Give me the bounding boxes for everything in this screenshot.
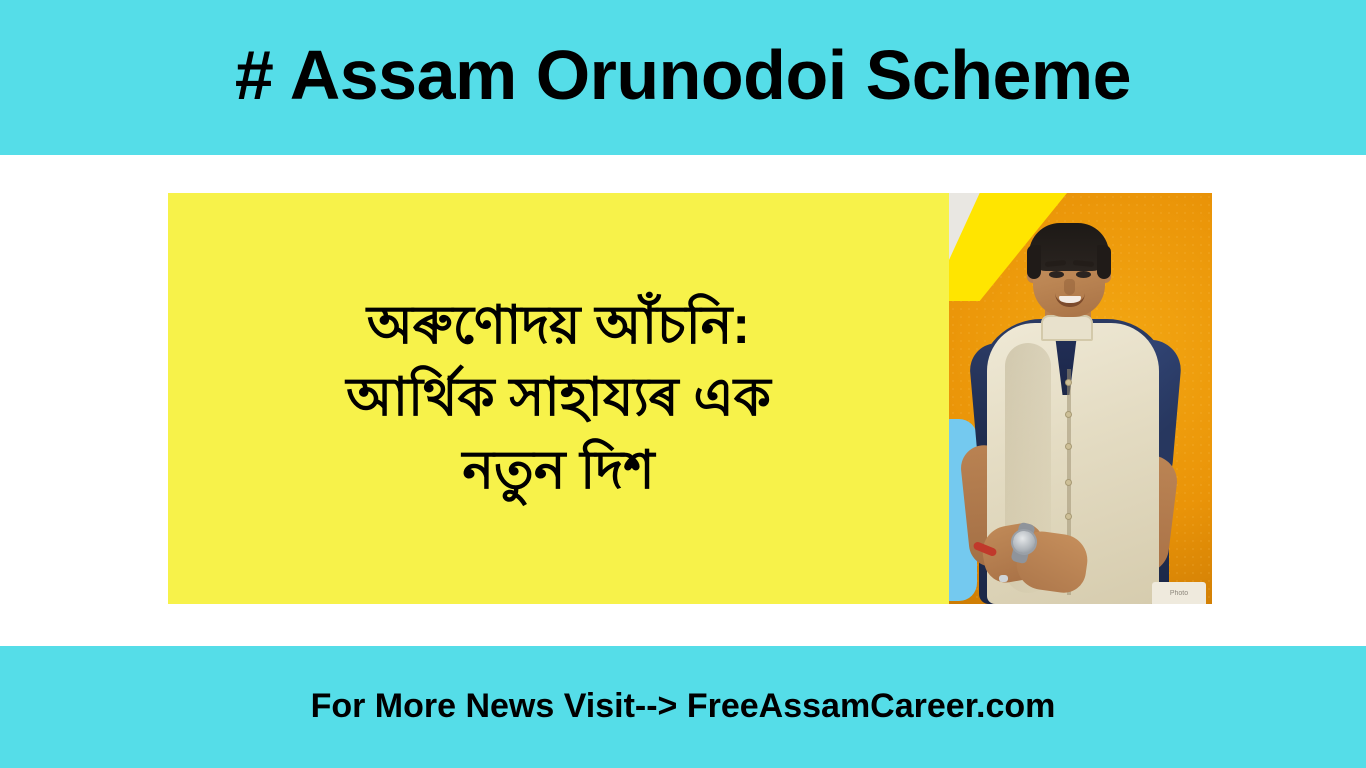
figure-collar — [1041, 315, 1093, 341]
poster-canvas: # Assam Orunodoi Scheme অৰুণোদয় আঁচনি: … — [0, 0, 1366, 768]
figure-ring — [999, 575, 1008, 582]
footer-credit: For More News Visit--> FreeAssamCareer.c… — [0, 646, 1366, 768]
figure-eye-left — [1049, 271, 1064, 278]
figure-eye-right — [1076, 271, 1091, 278]
headline-panel: অৰুণোদয় আঁচনি: আৰ্থিক সাহায্যৰ এক নতুন … — [168, 193, 949, 604]
headline-line-1: অৰুণোদয় আঁচনি: — [367, 290, 750, 362]
headline-line-2: আৰ্থিক সাহায্যৰ এক — [346, 362, 771, 434]
headline-line-3: নতুন দিশ — [462, 435, 654, 507]
figure-hair-side-right — [1097, 245, 1111, 279]
figure-button — [1065, 443, 1072, 450]
figure-button — [1065, 513, 1072, 520]
portrait-photo: Photo — [949, 193, 1212, 604]
figure-button — [1065, 411, 1072, 418]
figure-button — [1065, 479, 1072, 486]
page-title: # Assam Orunodoi Scheme — [0, 0, 1366, 155]
photo-caption-chip: Photo — [1152, 582, 1206, 604]
person-figure — [949, 193, 1212, 604]
figure-hair-side-left — [1027, 245, 1041, 279]
figure-button — [1065, 379, 1072, 386]
content-card: অৰুণোদয় আঁচনি: আৰ্থিক সাহায্যৰ এক নতুন … — [168, 193, 1212, 604]
photo-caption-text: Photo — [1170, 590, 1188, 597]
